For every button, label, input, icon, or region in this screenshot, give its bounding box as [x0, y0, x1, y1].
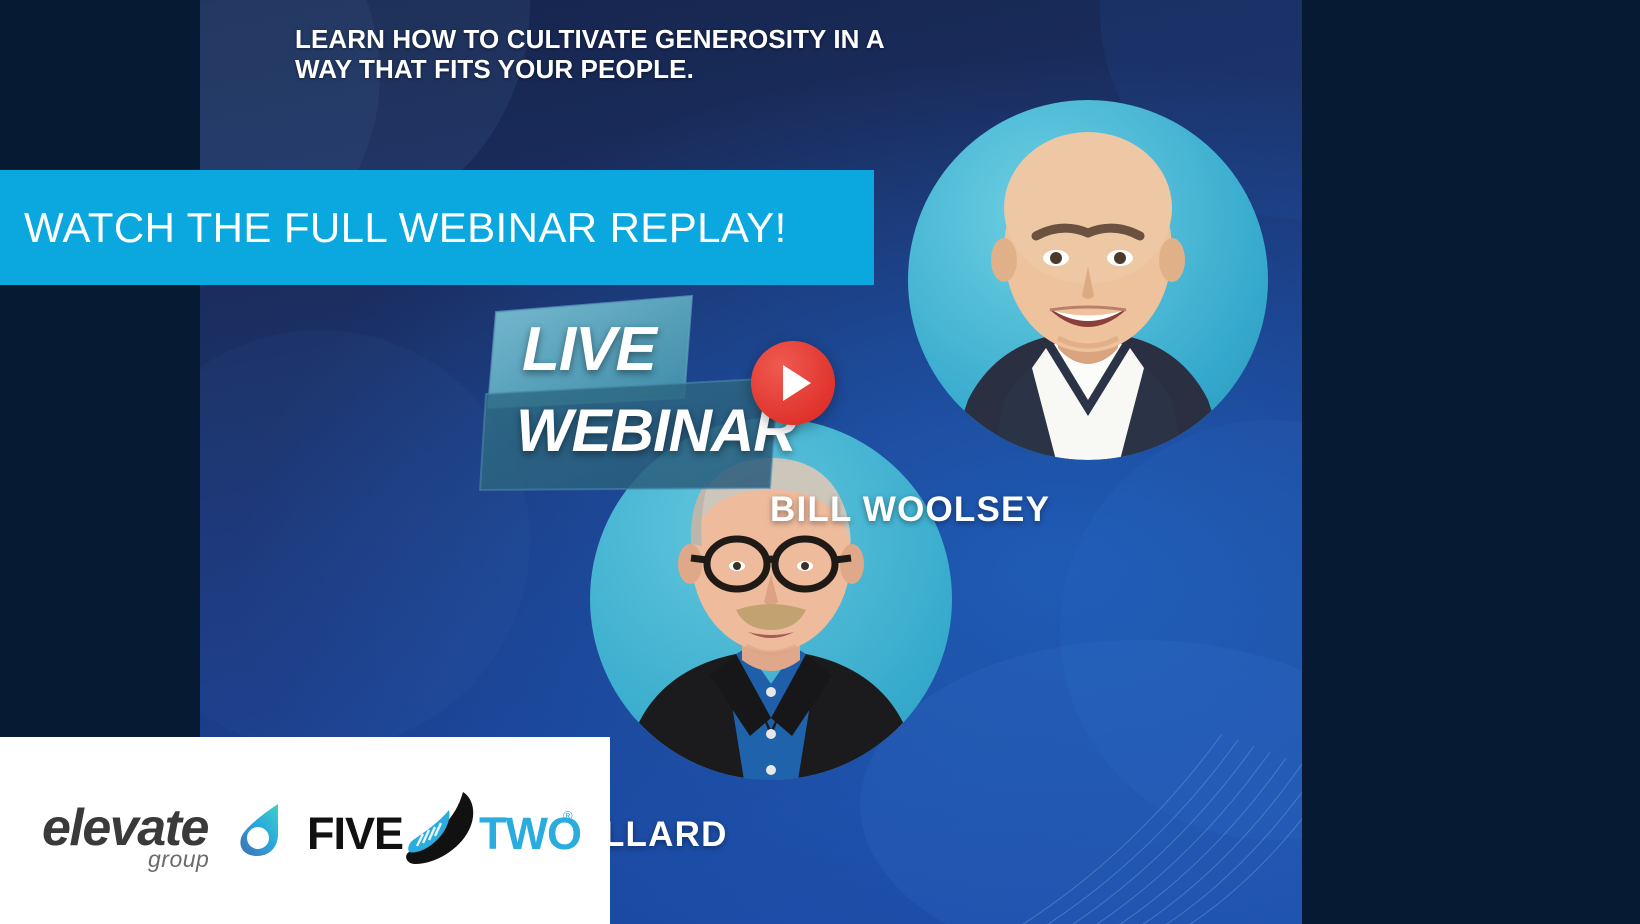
five-two-logo[interactable]: FIVE TWO ®	[307, 788, 577, 874]
registered-mark: ®	[563, 808, 573, 823]
avatar	[908, 100, 1268, 460]
elevate-subtext: group	[148, 846, 209, 873]
speaker-avatar-bill-woolsey	[908, 100, 1268, 460]
page-title: LEARN HOW TO CULTIVATE GENEROSITY IN A W…	[295, 24, 955, 85]
partner-logo-bar: elevate group FIVE	[0, 737, 610, 924]
speaker-name-bill-woolsey: BILL WOOLSEY	[770, 490, 1050, 530]
water-drop-icon	[236, 800, 282, 858]
watch-replay-label: WATCH THE FULL WEBINAR REPLAY!	[24, 204, 787, 252]
webinar-promo-screenshot: LEARN HOW TO CULTIVATE GENEROSITY IN A W…	[0, 0, 1640, 924]
decorative-circle-right	[1060, 420, 1302, 840]
five-wordmark: FIVE	[307, 808, 403, 860]
play-button[interactable]	[751, 341, 835, 425]
fish-icon	[401, 788, 487, 874]
elevate-group-logo[interactable]: elevate group	[42, 790, 277, 872]
live-webinar-badge: LIVE WEBINAR	[478, 290, 798, 490]
play-triangle-icon	[783, 365, 811, 401]
badge-word-webinar: WEBINAR	[516, 396, 796, 465]
decorative-wave-lines	[922, 644, 1302, 924]
headline-line-1: LEARN HOW TO CULTIVATE GENEROSITY IN A	[295, 24, 955, 54]
badge-word-live: LIVE	[522, 314, 656, 385]
headline-line-2: WAY THAT FITS YOUR PEOPLE.	[295, 54, 955, 84]
watch-replay-banner[interactable]: WATCH THE FULL WEBINAR REPLAY!	[0, 170, 874, 285]
